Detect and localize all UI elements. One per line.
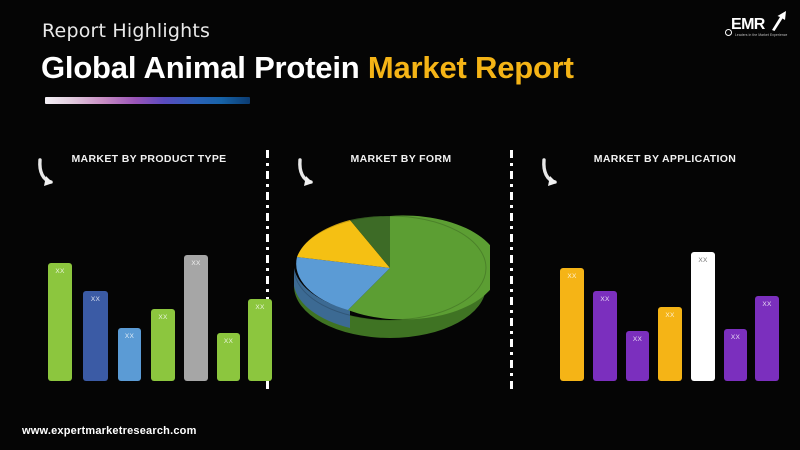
bar-3-value: XX <box>633 336 642 343</box>
page-title: Global Animal Protein Market Report <box>41 50 574 86</box>
page-header: Report Highlights Global Animal Protein … <box>0 0 800 120</box>
bar-1-value: XX <box>55 268 64 275</box>
bar-5: XX <box>691 252 715 381</box>
growth-arrow-icon <box>769 9 787 31</box>
page-title-main: Global Animal Protein <box>41 50 368 85</box>
bar-5: XX <box>184 255 208 381</box>
bar-7-value: XX <box>255 304 264 311</box>
bar-4-value: XX <box>158 314 167 321</box>
panel-market-by-application: MARKET BY APPLICATION XX XX XX XX XX XX … <box>522 140 784 395</box>
panel-divider-right <box>510 150 513 390</box>
bar-2: XX <box>593 291 617 381</box>
report-kicker: Report Highlights <box>42 20 210 42</box>
logo-text: EMR <box>731 16 765 34</box>
pie-chart-market-by-form <box>290 198 490 338</box>
bar-1: XX <box>560 268 584 381</box>
emr-logo[interactable]: EMR Leaders in the Market Experience <box>723 9 787 43</box>
bar-5-value: XX <box>191 260 200 267</box>
bar-4-value: XX <box>665 312 674 319</box>
bar-7: XX <box>755 296 779 381</box>
bar-7-value: XX <box>762 301 771 308</box>
bar-6-value: XX <box>731 334 740 341</box>
bar-3: XX <box>118 328 141 381</box>
panel-market-by-product-type: MARKET BY PRODUCT TYPE XX XX XX XX XX XX… <box>18 140 256 395</box>
page-title-accent: Market Report <box>368 50 574 85</box>
panel-market-by-form: MARKET BY FORM <box>278 140 500 395</box>
bar-6: XX <box>724 329 747 381</box>
bar-2-value: XX <box>91 296 100 303</box>
bar-3-value: XX <box>125 333 134 340</box>
bar-1: XX <box>48 263 72 381</box>
bar-6-value: XX <box>224 338 233 345</box>
bar-1-value: XX <box>567 273 576 280</box>
bar-4: XX <box>151 309 175 381</box>
logo-tagline: Leaders in the Market Experience <box>735 33 787 37</box>
bar-5-value: XX <box>698 257 707 264</box>
bar-2: XX <box>83 291 108 381</box>
footer-website[interactable]: www.expertmarketresearch.com <box>22 425 197 437</box>
bar-7: XX <box>248 299 272 381</box>
bar-chart-application: XX XX XX XX XX XX XX <box>522 140 784 395</box>
bar-2-value: XX <box>600 296 609 303</box>
pie-svg <box>290 198 490 338</box>
bar-3: XX <box>626 331 649 381</box>
title-gradient-rule <box>45 97 250 104</box>
panel-2-title: MARKET BY FORM <box>278 153 500 165</box>
bar-6: XX <box>217 333 240 381</box>
bar-chart-product-type: XX XX XX XX XX XX XX <box>18 140 256 395</box>
bar-4: XX <box>658 307 682 381</box>
